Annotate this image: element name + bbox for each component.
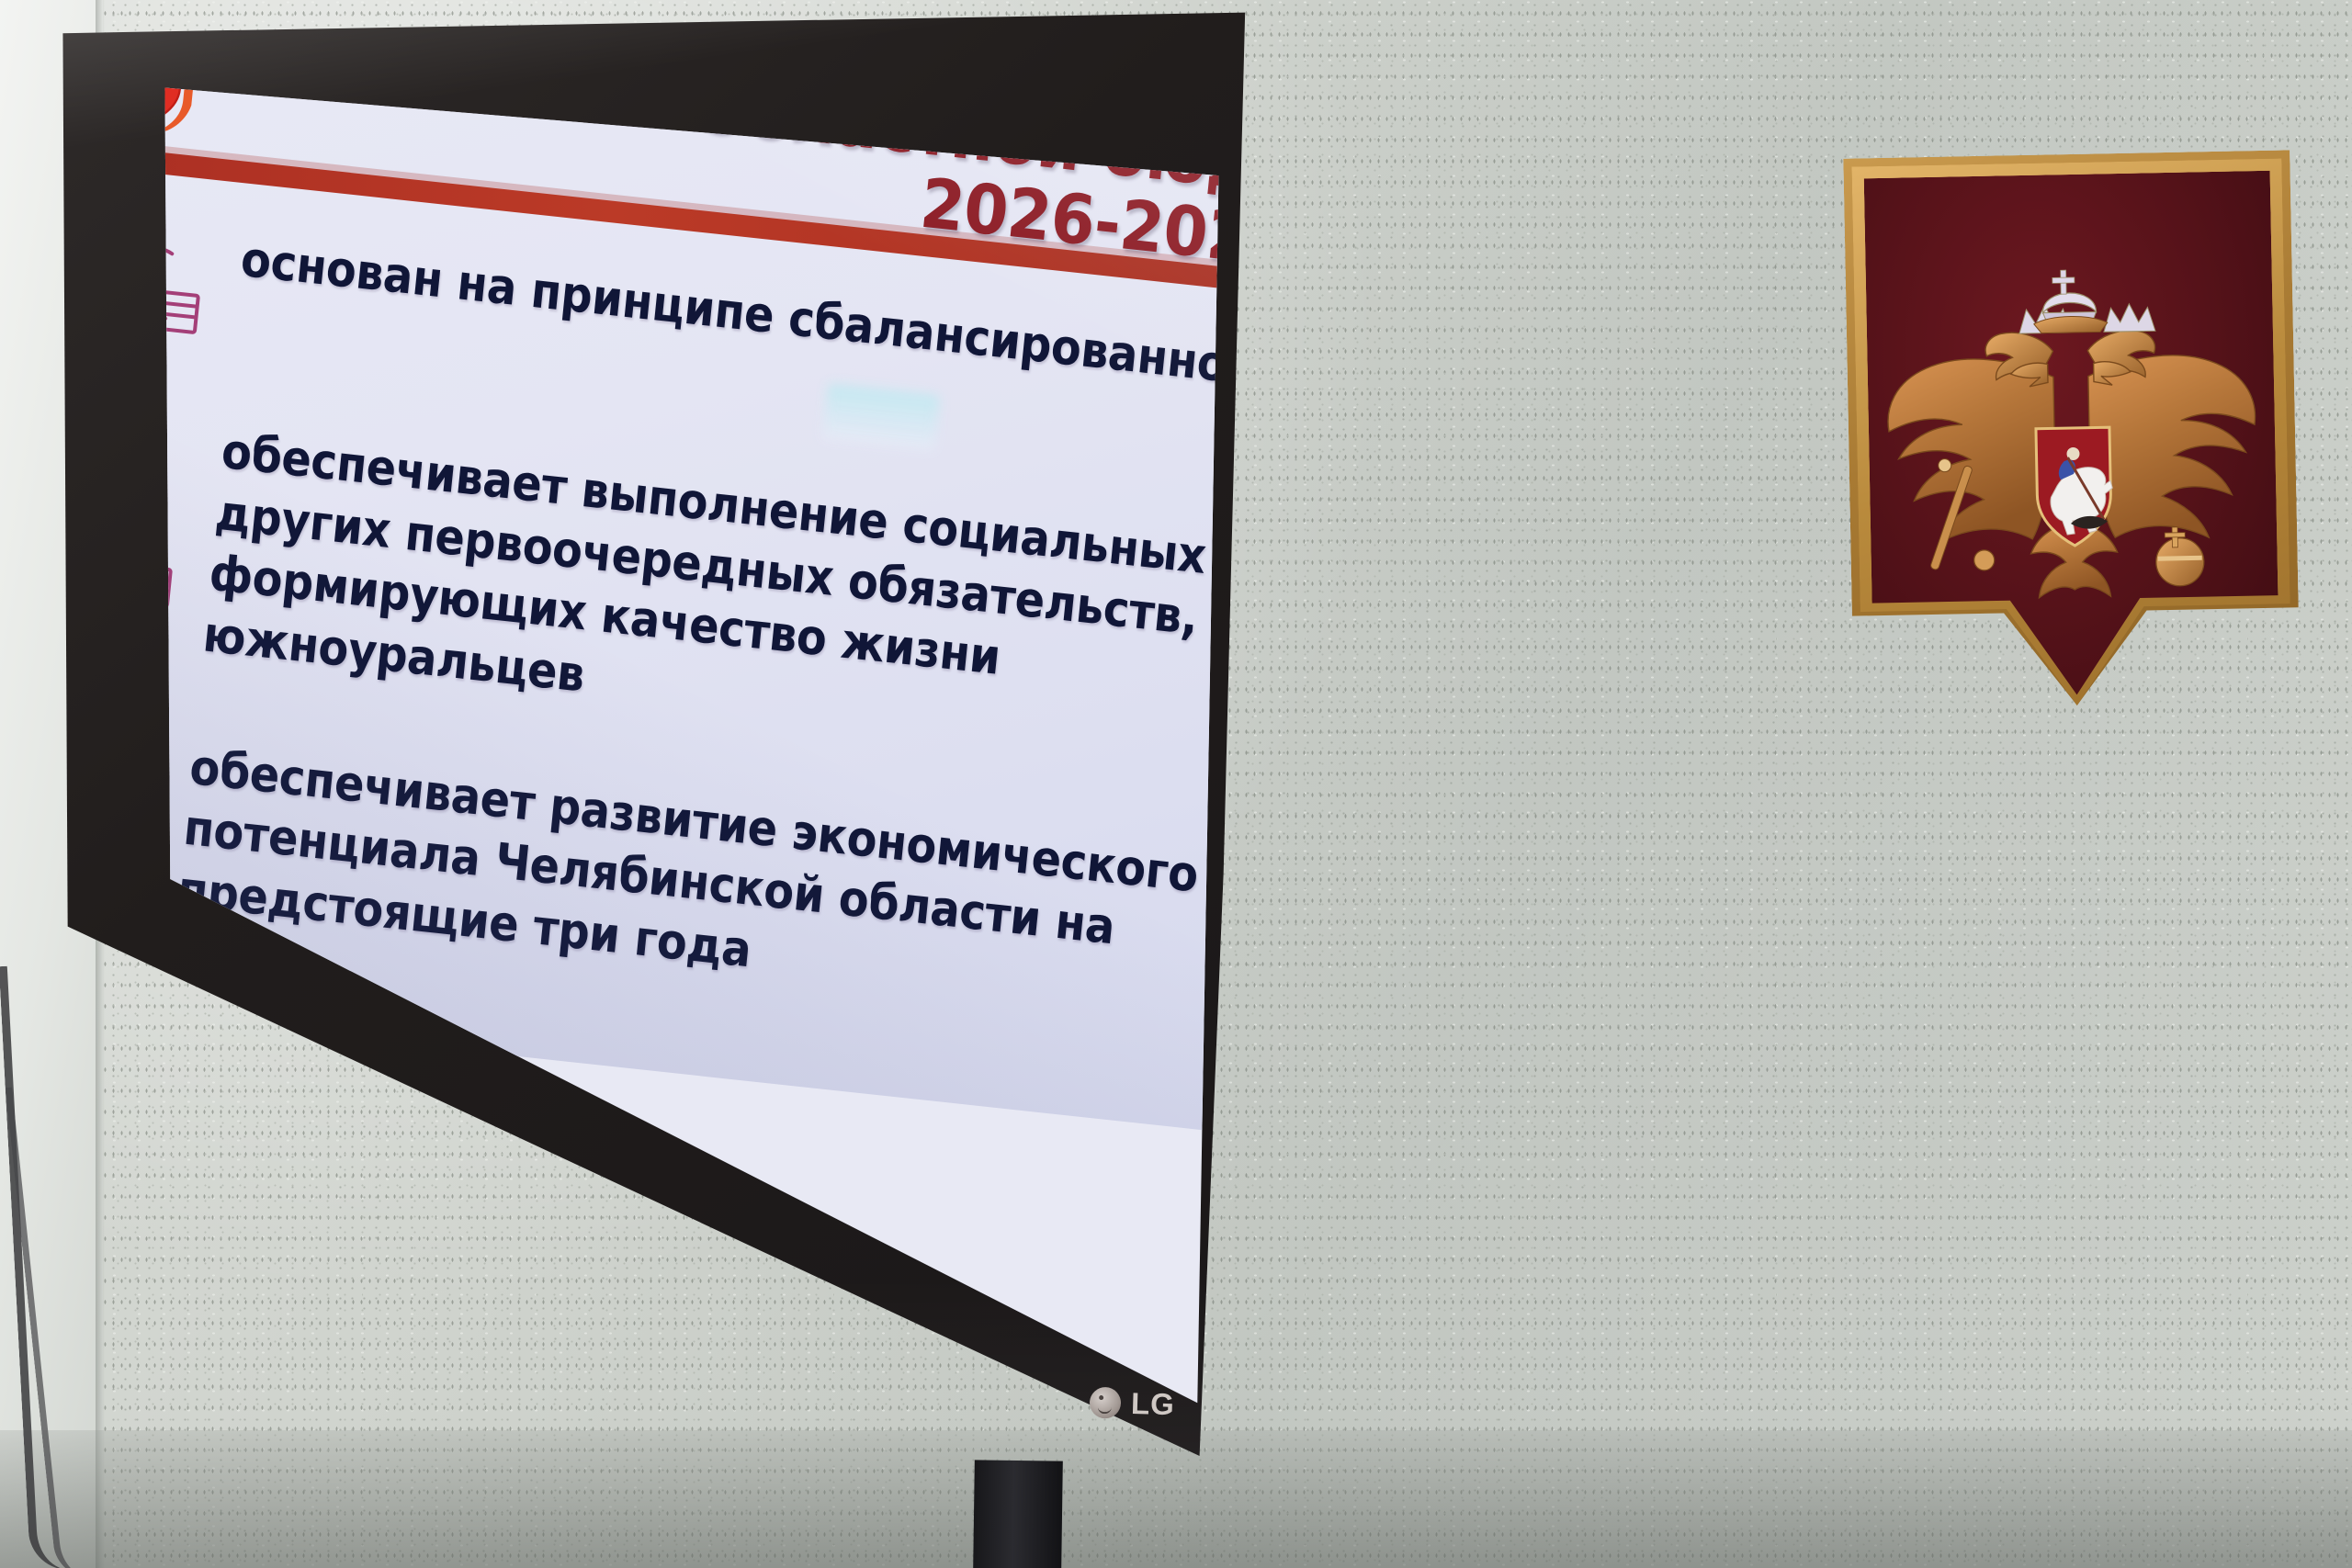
photo-scene: Областной бюджет на 2026-2028 годы — [0, 0, 2352, 1568]
saint-george-shield — [2036, 427, 2113, 547]
tv-stand-neck — [973, 1460, 1063, 1568]
bullet-text: обеспечивает выполнение социальных и дру… — [200, 421, 1223, 786]
russian-coat-of-arms-plaque — [1843, 150, 2300, 709]
lg-brand-label: LG — [1130, 1386, 1175, 1422]
bullet-item: обеспечивает выполнение социальных и дру… — [162, 405, 1223, 799]
eagle-crowns — [2018, 268, 2155, 333]
double-headed-eagle-icon — [1871, 244, 2273, 637]
lg-face-logo-icon — [1090, 1387, 1122, 1419]
ruble-coin-stack-icon — [162, 222, 211, 346]
lg-brand-mark: LG — [1089, 1385, 1175, 1423]
television: Областной бюджет на 2026-2028 годы — [53, 4, 1252, 1483]
eagle-orb — [2155, 526, 2204, 586]
